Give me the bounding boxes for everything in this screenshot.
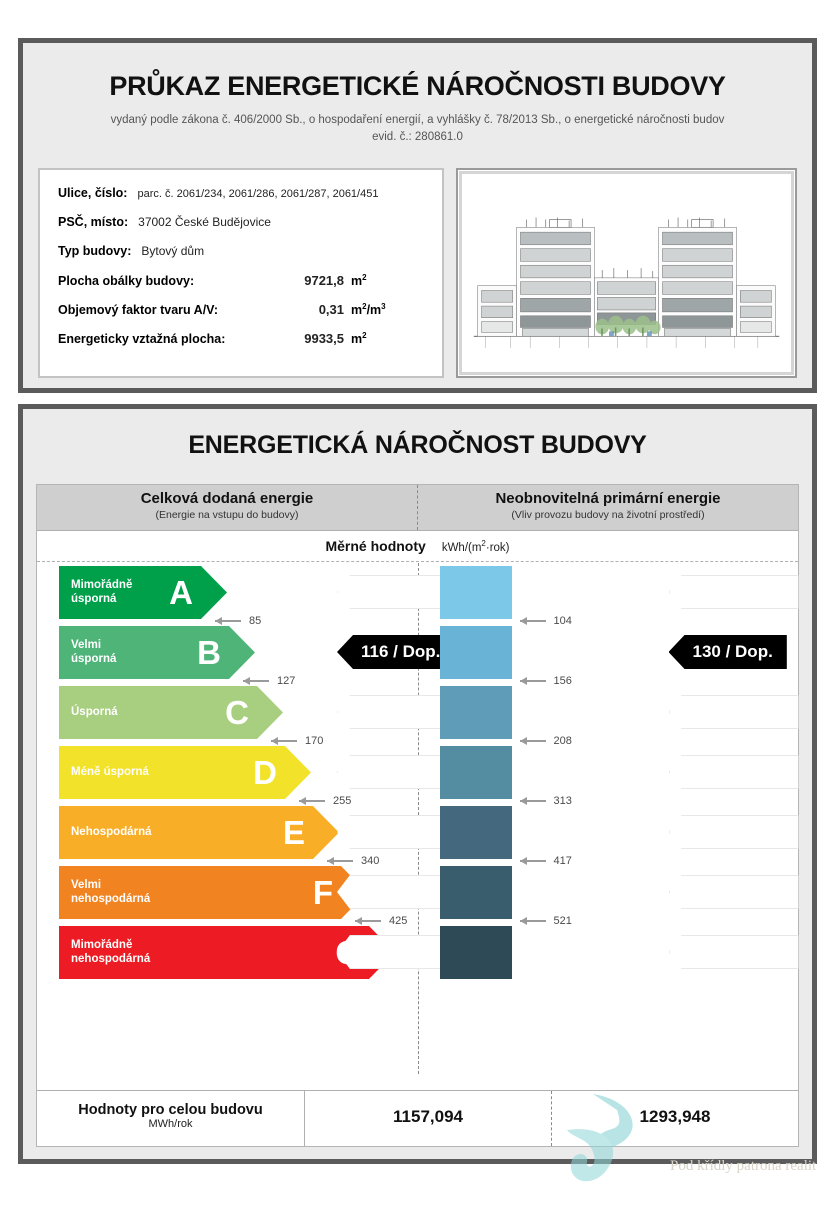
empty-result-slot-primary: [669, 875, 799, 909]
measure-units-row: Měrné hodnotykWh/(m2·rok): [37, 531, 798, 562]
subtitle-line-1: vydaný podle zákona č. 406/2000 Sb., o h…: [111, 114, 725, 126]
building-info-label: PSČ, místo:: [58, 215, 128, 229]
primary-energy-block-g: [440, 926, 512, 979]
total-primary-value: 1293,948: [551, 1091, 798, 1146]
building-info-unit: m2: [344, 273, 367, 288]
building-info-label: Ulice, číslo:: [58, 186, 127, 200]
building-elevation-drawing: [466, 178, 787, 368]
subtitle-line-2: evid. č.: 280861.0: [372, 131, 463, 143]
tick-arrow-icon: [520, 620, 546, 622]
building-info-value: 9721,8: [270, 273, 344, 288]
document-subtitle: vydaný podle zákona č. 406/2000 Sb., o h…: [23, 102, 812, 147]
building-info-row: PSČ, místo:37002 České Budějovice: [58, 215, 442, 244]
primary-energy-block-b: [440, 626, 512, 679]
primary-energy-block-a: [440, 566, 512, 619]
energy-scale-table: Celková dodaná energie (Energie na vstup…: [36, 484, 799, 1147]
building-info-value: 9933,5: [270, 331, 344, 346]
empty-result-slot-primary: [669, 575, 799, 609]
building-info-row: Energeticky vztažná plocha:9933,5m2: [58, 331, 442, 360]
building-info-unit: m2: [344, 331, 367, 346]
building-image-frame: [456, 168, 797, 378]
building-info-unit: m2/m3: [344, 302, 386, 317]
tick-arrow-icon: [520, 800, 546, 802]
scale-row: 313: [37, 743, 798, 803]
primary-energy-scale: 104156130 / Dop.208313417521: [37, 563, 798, 1074]
building-info-value: Bytový dům: [131, 244, 204, 258]
empty-result-slot-primary: [669, 815, 799, 849]
header-body: Ulice, číslo:parc. č. 2061/234, 2061/286…: [38, 168, 797, 378]
col-subtitle-delivered: (Energie na vstupu do budovy): [37, 507, 417, 521]
scale-row: 104: [37, 563, 798, 623]
col-title-delivered: Celková dodaná energie: [37, 490, 417, 507]
column-header-delivered: Celková dodaná energie (Energie na vstup…: [37, 485, 417, 530]
page-title: PRŮKAZ ENERGETICKÉ NÁROČNOSTI BUDOVY: [23, 43, 812, 102]
building-info-label: Typ budovy:: [58, 244, 131, 258]
building-info-row: Ulice, číslo:parc. č. 2061/234, 2061/286…: [58, 186, 442, 215]
section-title: ENERGETICKÁ NÁROČNOST BUDOVY: [23, 409, 812, 460]
col-subtitle-primary: (Vliv provozu budovy na životní prostřed…: [418, 507, 798, 521]
scale-row: [37, 923, 798, 983]
empty-result-slot-primary: [669, 695, 799, 729]
totals-label: Hodnoty pro celou budovu: [37, 1102, 304, 1118]
totals-label-cell: Hodnoty pro celou budovu MWh/rok: [37, 1091, 305, 1146]
building-info-row: Plocha obálky budovy:9721,8m2: [58, 273, 442, 302]
scale-row: 156130 / Dop.: [37, 623, 798, 683]
tick-arrow-icon: [520, 680, 546, 682]
primary-energy-block-d: [440, 746, 512, 799]
tick-arrow-icon: [520, 860, 546, 862]
building-info-table: Ulice, číslo:parc. č. 2061/234, 2061/286…: [38, 168, 444, 378]
scale-row: 521: [37, 863, 798, 923]
energy-performance-panel: ENERGETICKÁ NÁROČNOST BUDOVY Celková dod…: [18, 404, 817, 1164]
tick-arrow-icon: [520, 740, 546, 742]
primary-energy-block-f: [440, 866, 512, 919]
tick-arrow-icon: [520, 920, 546, 922]
scale-grid: Mimořádně úspornáA85AVelmi úspornáB12711…: [37, 563, 798, 1074]
building-info-value: 37002 České Budějovice: [128, 215, 271, 229]
building-info-label: Objemový faktor tvaru A/V:: [58, 303, 270, 317]
empty-result-slot-primary: [669, 935, 799, 969]
building-info-row: Typ budovy:Bytový dům: [58, 244, 442, 273]
column-headers: Celková dodaná energie (Energie na vstup…: [37, 485, 798, 531]
building-info-value: parc. č. 2061/234, 2061/286, 2061/287, 2…: [127, 188, 378, 200]
primary-energy-block-e: [440, 806, 512, 859]
scale-row: 208: [37, 683, 798, 743]
building-info-label: Energeticky vztažná plocha:: [58, 332, 270, 346]
building-info-row: Objemový faktor tvaru A/V:0,31m2/m3: [58, 302, 442, 331]
empty-result-slot-primary: [669, 755, 799, 789]
result-badge-primary: 130 / Dop.: [669, 635, 787, 669]
column-header-primary: Neobnovitelná primární energie (Vliv pro…: [417, 485, 798, 530]
building-info-value: 0,31: [270, 302, 344, 317]
totals-unit: MWh/rok: [37, 1118, 304, 1130]
scale-row: 417: [37, 803, 798, 863]
certificate-header-panel: PRŮKAZ ENERGETICKÉ NÁROČNOSTI BUDOVY vyd…: [18, 38, 817, 393]
col-title-primary: Neobnovitelná primární energie: [418, 490, 798, 507]
primary-energy-block-c: [440, 686, 512, 739]
measure-unit: kWh/(m2·rok): [426, 542, 510, 554]
total-delivered-value: 1157,094: [305, 1091, 551, 1146]
building-info-label: Plocha obálky budovy:: [58, 274, 270, 288]
measure-label: Měrné hodnoty: [325, 538, 425, 554]
totals-row: Hodnoty pro celou budovu MWh/rok 1157,09…: [37, 1090, 798, 1146]
